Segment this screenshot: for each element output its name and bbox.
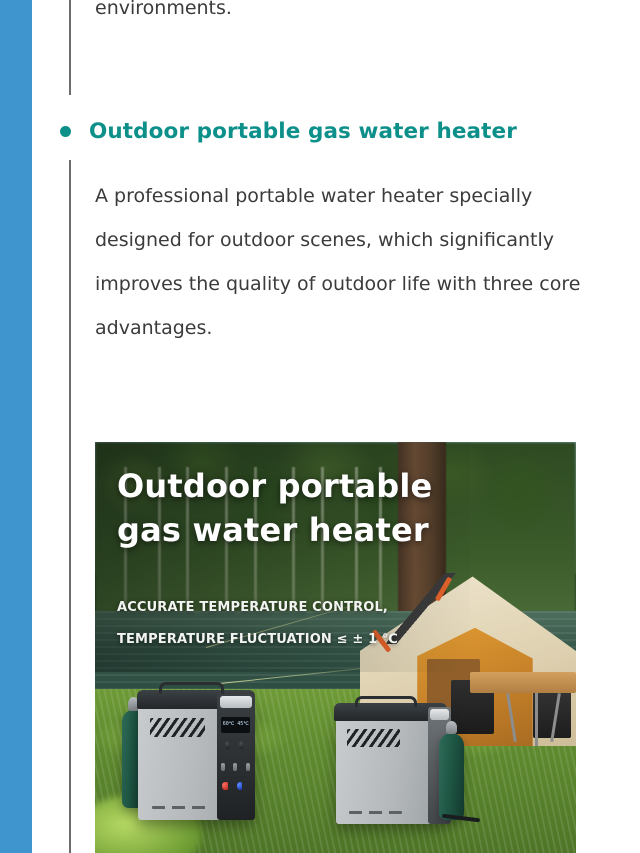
water-heater-unit-left: 60℃ 45℃ [138,701,253,820]
water-heater-unit-right [336,713,447,824]
vertical-rule-top [69,0,71,95]
section-heading: Outdoor portable gas water heater [89,121,517,143]
heater-vent-grille-left [150,718,205,737]
gas-cylinder-right [439,733,463,820]
heater-base-slots-right [349,811,402,814]
panel-top-strip [220,696,252,707]
temperature-display: 60℃ 45℃ [221,717,250,733]
display-value-right: 45℃ [237,722,249,727]
banner-title-line-2: gas water heater [117,508,432,552]
control-knob-2 [239,741,244,750]
product-banner-image: 60℃ 45℃ [95,442,576,853]
heater-handle-right [355,696,417,707]
banner-title-line-1: Outdoor portable [117,464,432,508]
control-knob-1 [225,741,230,750]
bullet-dot-icon [60,126,71,137]
banner-subtitle-line-1: ACCURATE TEMPERATURE CONTROL, [117,592,398,624]
banner-title: Outdoor portable gas water heater [117,464,432,552]
panel-top-strip-right [430,709,449,720]
heater-vent-grille-right [347,729,400,747]
section-paragraph: A professional portable water heater spe… [95,174,581,350]
heater-handle-left [159,682,224,694]
bullet-heading-row: Outdoor portable gas water heater [60,121,517,143]
display-value-left: 60℃ [223,722,235,727]
vertical-rule-bottom [69,160,71,853]
water-port-2 [233,763,237,771]
heater-base-slots-left [152,806,207,810]
cold-water-valve [237,782,243,790]
campsite-scene: 60℃ 45℃ [95,442,576,853]
hot-water-valve [222,782,228,790]
gas-valve-right [446,721,458,734]
left-accent-rail [0,0,32,853]
banner-subtitle: ACCURATE TEMPERATURE CONTROL, TEMPERATUR… [117,592,398,656]
water-port-3 [246,763,250,771]
camp-table [470,672,576,693]
banner-subtitle-line-2: TEMPERATURE FLUCTUATION ≤ ± 1 ℃ [117,624,398,656]
water-port-1 [221,763,225,771]
heater-control-panel: 60℃ 45℃ [217,694,255,820]
paragraph-continuation: environments. [95,0,581,30]
article-page: environments. Outdoor portable gas water… [0,0,640,853]
